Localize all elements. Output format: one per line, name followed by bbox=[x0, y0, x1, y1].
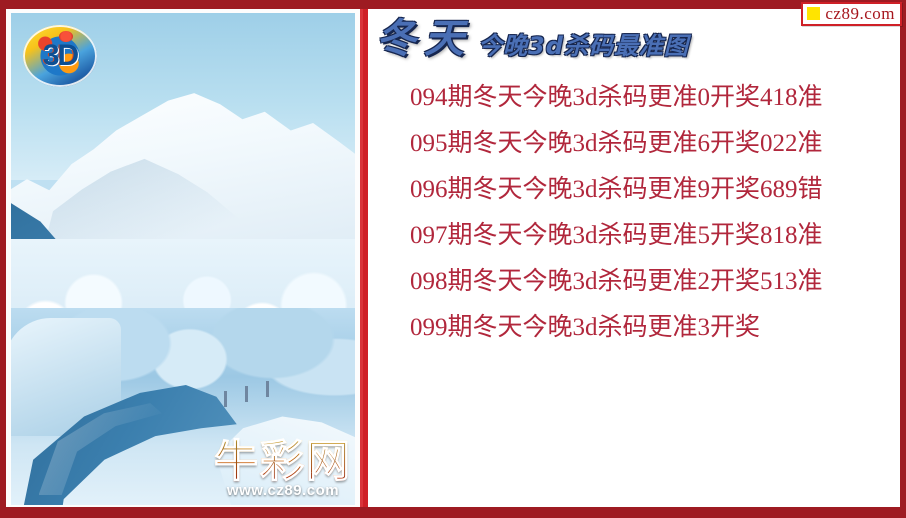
roadside-post-icon bbox=[266, 381, 269, 397]
list-item: 097期冬天今晚3d杀码更准5开奖818准 bbox=[410, 213, 890, 259]
roadside-post-icon bbox=[245, 386, 248, 402]
prediction-list: 094期冬天今晚3d杀码更准0开奖418准 095期冬天今晚3d杀码更准6开奖0… bbox=[410, 75, 890, 351]
frame-left-border bbox=[0, 0, 6, 518]
list-item: 098期冬天今晚3d杀码更准2开奖513准 bbox=[410, 259, 890, 305]
list-item: 094期冬天今晚3d杀码更准0开奖418准 bbox=[410, 75, 890, 121]
frame-bottom-border bbox=[0, 507, 906, 518]
brand-badge[interactable]: cz89.com bbox=[801, 2, 902, 26]
list-item: 096期冬天今晚3d杀码更准9开奖689错 bbox=[410, 167, 890, 213]
photo-panel: 3D 牛彩网 www.cz89.com bbox=[6, 9, 360, 507]
list-item: 095期冬天今晚3d杀码更准6开奖022准 bbox=[410, 121, 890, 167]
logo-text: 3D bbox=[23, 39, 97, 73]
panel-divider-highlight bbox=[360, 6, 363, 512]
title-subtitle: 今晚3d杀码最准图 bbox=[478, 31, 689, 61]
yellow-square-icon bbox=[807, 7, 820, 20]
panel-divider bbox=[360, 6, 368, 512]
list-item: 099期冬天今晚3d杀码更准3开奖 bbox=[410, 305, 890, 351]
watermark-brand: 牛彩网 bbox=[199, 440, 355, 484]
page-title: 冬天今晚3d杀码最准图 bbox=[376, 17, 689, 69]
frame-top-border bbox=[0, 0, 906, 9]
winter-scene-image: 3D 牛彩网 www.cz89.com bbox=[11, 13, 355, 505]
poster-page: 3D 牛彩网 www.cz89.com 冬天今晚3d杀码最准图 094期冬天今晚… bbox=[0, 0, 906, 518]
title-main: 冬天 bbox=[376, 17, 472, 61]
roadside-post-icon bbox=[224, 391, 227, 407]
3d-lottery-logo-icon: 3D bbox=[23, 25, 97, 87]
text-panel: 冬天今晚3d杀码最准图 094期冬天今晚3d杀码更准0开奖418准 095期冬天… bbox=[368, 9, 900, 507]
brand-badge-label: cz89.com bbox=[825, 5, 895, 22]
frame-right-border bbox=[900, 0, 906, 518]
watermark: 牛彩网 www.cz89.com bbox=[199, 440, 355, 499]
